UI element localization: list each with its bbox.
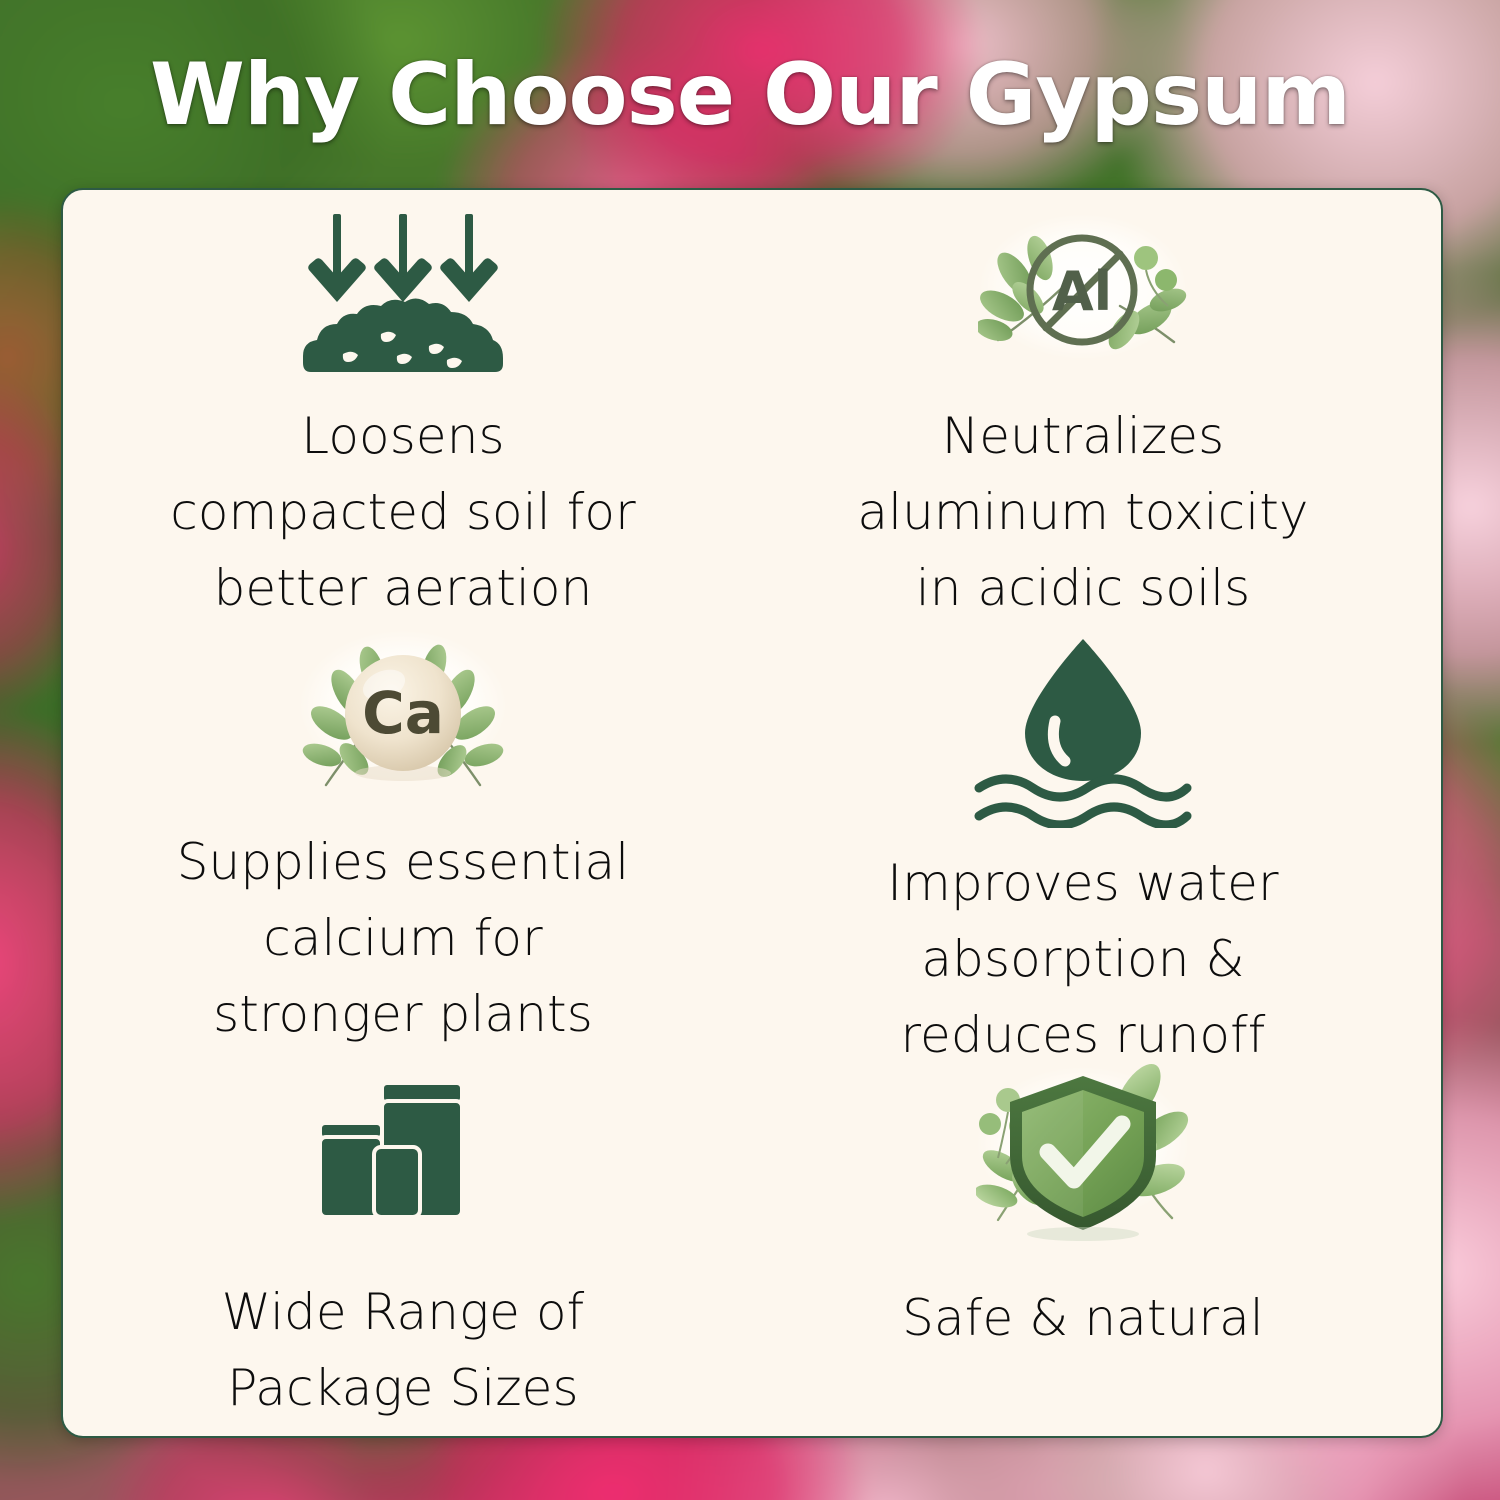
feature-neutralizes-aluminum-toxicity: Al Neutralizes aluminum toxicity in acid… <box>763 204 1403 626</box>
calcium-sphere-icon: Ca <box>288 620 518 806</box>
feature-line: Loosens <box>103 398 703 474</box>
page-title: Why Choose Our Gypsum <box>0 52 1500 138</box>
feature-label: Wide Range of Package Sizes <box>103 1274 703 1426</box>
infographic-stage: Why Choose Our Gypsum <box>0 0 1500 1500</box>
feature-line: stronger plants <box>103 976 703 1052</box>
no-aluminum-icon: Al <box>968 204 1198 384</box>
feature-line: Supplies essential <box>103 824 703 900</box>
feature-line: Safe & natural <box>783 1280 1383 1356</box>
feature-wide-range-package-sizes: Wide Range of Package Sizes <box>83 1056 723 1426</box>
features-grid: Loosens compacted soil for better aerati… <box>63 190 1441 1436</box>
feature-label: Improves water absorption & reduces runo… <box>783 845 1383 1073</box>
feature-line: aluminum toxicity <box>783 474 1383 550</box>
feature-label: Safe & natural <box>783 1280 1383 1356</box>
arrows-into-soil-icon <box>303 204 503 384</box>
features-panel: Loosens compacted soil for better aerati… <box>61 188 1443 1438</box>
feature-line: Neutralizes <box>783 398 1383 474</box>
feature-line: calcium for <box>103 900 703 976</box>
feature-supplies-essential-calcium: Ca Supplies essential calcium for strong… <box>83 620 723 1052</box>
feature-line: Wide Range of <box>103 1274 703 1350</box>
water-waves-icon <box>973 772 1193 833</box>
package-bags-icon <box>308 1056 498 1246</box>
feature-loosens-compacted-soil: Loosens compacted soil for better aerati… <box>83 204 723 626</box>
feature-label: Supplies essential calcium for stronger … <box>103 824 703 1052</box>
feature-improves-water-absorption: Improves water absorption & reduces runo… <box>763 620 1403 1073</box>
calcium-label: Ca <box>362 679 444 747</box>
feature-safe-and-natural: Safe & natural <box>763 1056 1403 1356</box>
feature-line: absorption & <box>783 921 1383 997</box>
feature-label: Neutralizes aluminum toxicity in acidic … <box>783 398 1383 626</box>
feature-line: Package Sizes <box>103 1350 703 1426</box>
shield-check-leaves-icon <box>965 1056 1201 1246</box>
feature-line: in acidic soils <box>783 550 1383 626</box>
no-aluminum-label: Al <box>1052 260 1112 323</box>
feature-line: better aeration <box>103 550 703 626</box>
feature-line: compacted soil for <box>103 474 703 550</box>
feature-line: Improves water <box>783 845 1383 921</box>
feature-label: Loosens compacted soil for better aerati… <box>103 398 703 626</box>
